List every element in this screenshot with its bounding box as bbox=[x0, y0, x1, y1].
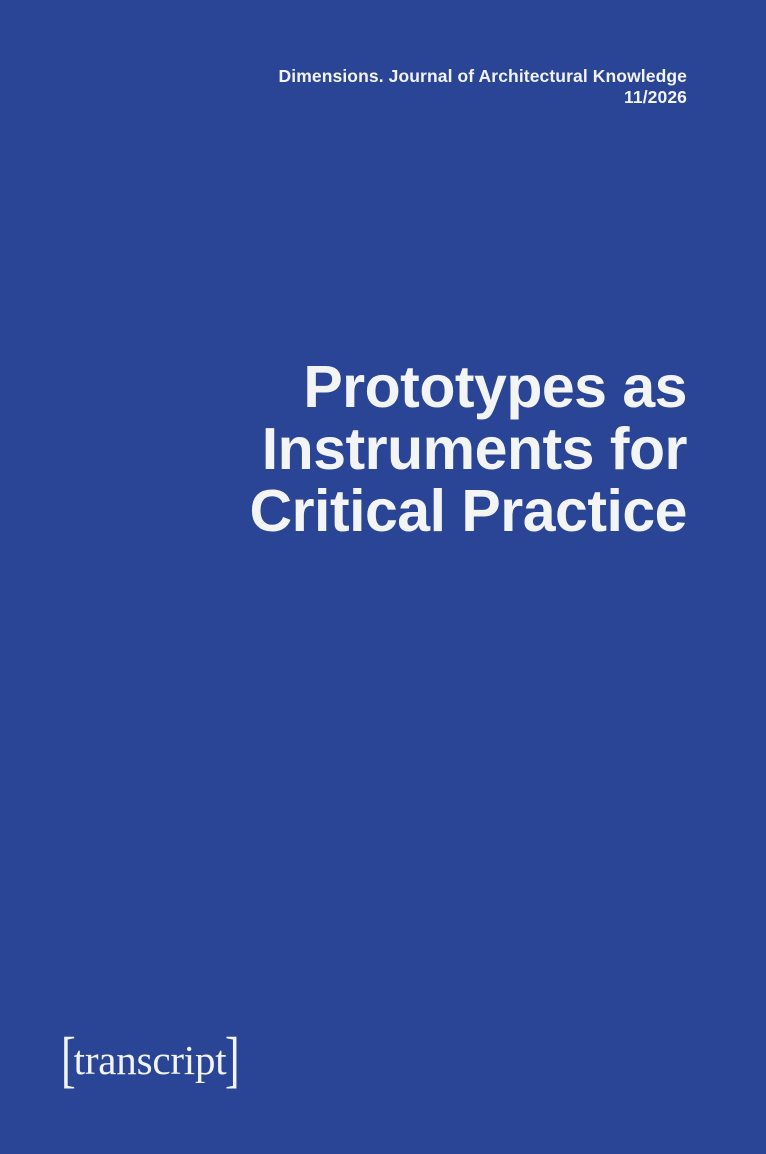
title-line-1: Prototypes as bbox=[120, 356, 687, 418]
title-line-2: Instruments for bbox=[120, 418, 687, 480]
series-name: Dimensions. Journal of Architectural Kno… bbox=[240, 66, 687, 87]
bracket-left-icon: [ bbox=[61, 1037, 76, 1083]
publisher-name: transcript bbox=[74, 1038, 227, 1082]
series-header: Dimensions. Journal of Architectural Kno… bbox=[240, 66, 687, 108]
title-line-3: Critical Practice bbox=[120, 480, 687, 542]
series-issue: 11/2026 bbox=[240, 87, 687, 108]
book-cover: Dimensions. Journal of Architectural Kno… bbox=[0, 0, 766, 1154]
bracket-right-icon: ] bbox=[224, 1037, 239, 1083]
page-title: Prototypes as Instruments for Critical P… bbox=[120, 356, 687, 542]
publisher-logo: [ transcript ] bbox=[58, 1032, 242, 1088]
